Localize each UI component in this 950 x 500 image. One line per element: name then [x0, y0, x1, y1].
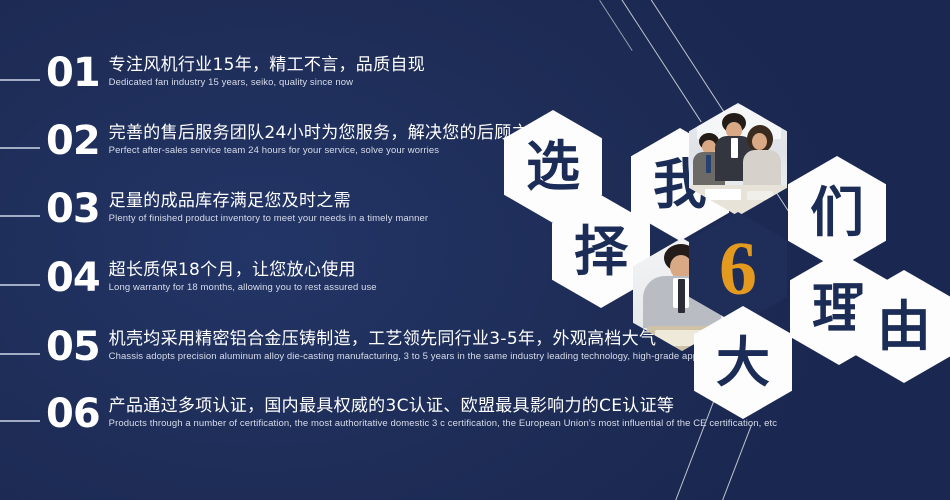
banner-root: 01 专注风机行业15年，精工不言，品质自现 Dedicated fan ind…	[0, 0, 950, 500]
hexagon-cluster: 选 我	[0, 0, 950, 500]
hexagon-label: 6	[719, 231, 757, 307]
hexagon-men: 们	[788, 156, 886, 269]
hexagon-label: 择	[574, 225, 628, 279]
hexagon-label: 选	[526, 140, 580, 194]
hexagon-label: 大	[716, 336, 770, 390]
hexagon-label: 由	[877, 300, 931, 354]
hexagon-label: 们	[810, 186, 864, 240]
